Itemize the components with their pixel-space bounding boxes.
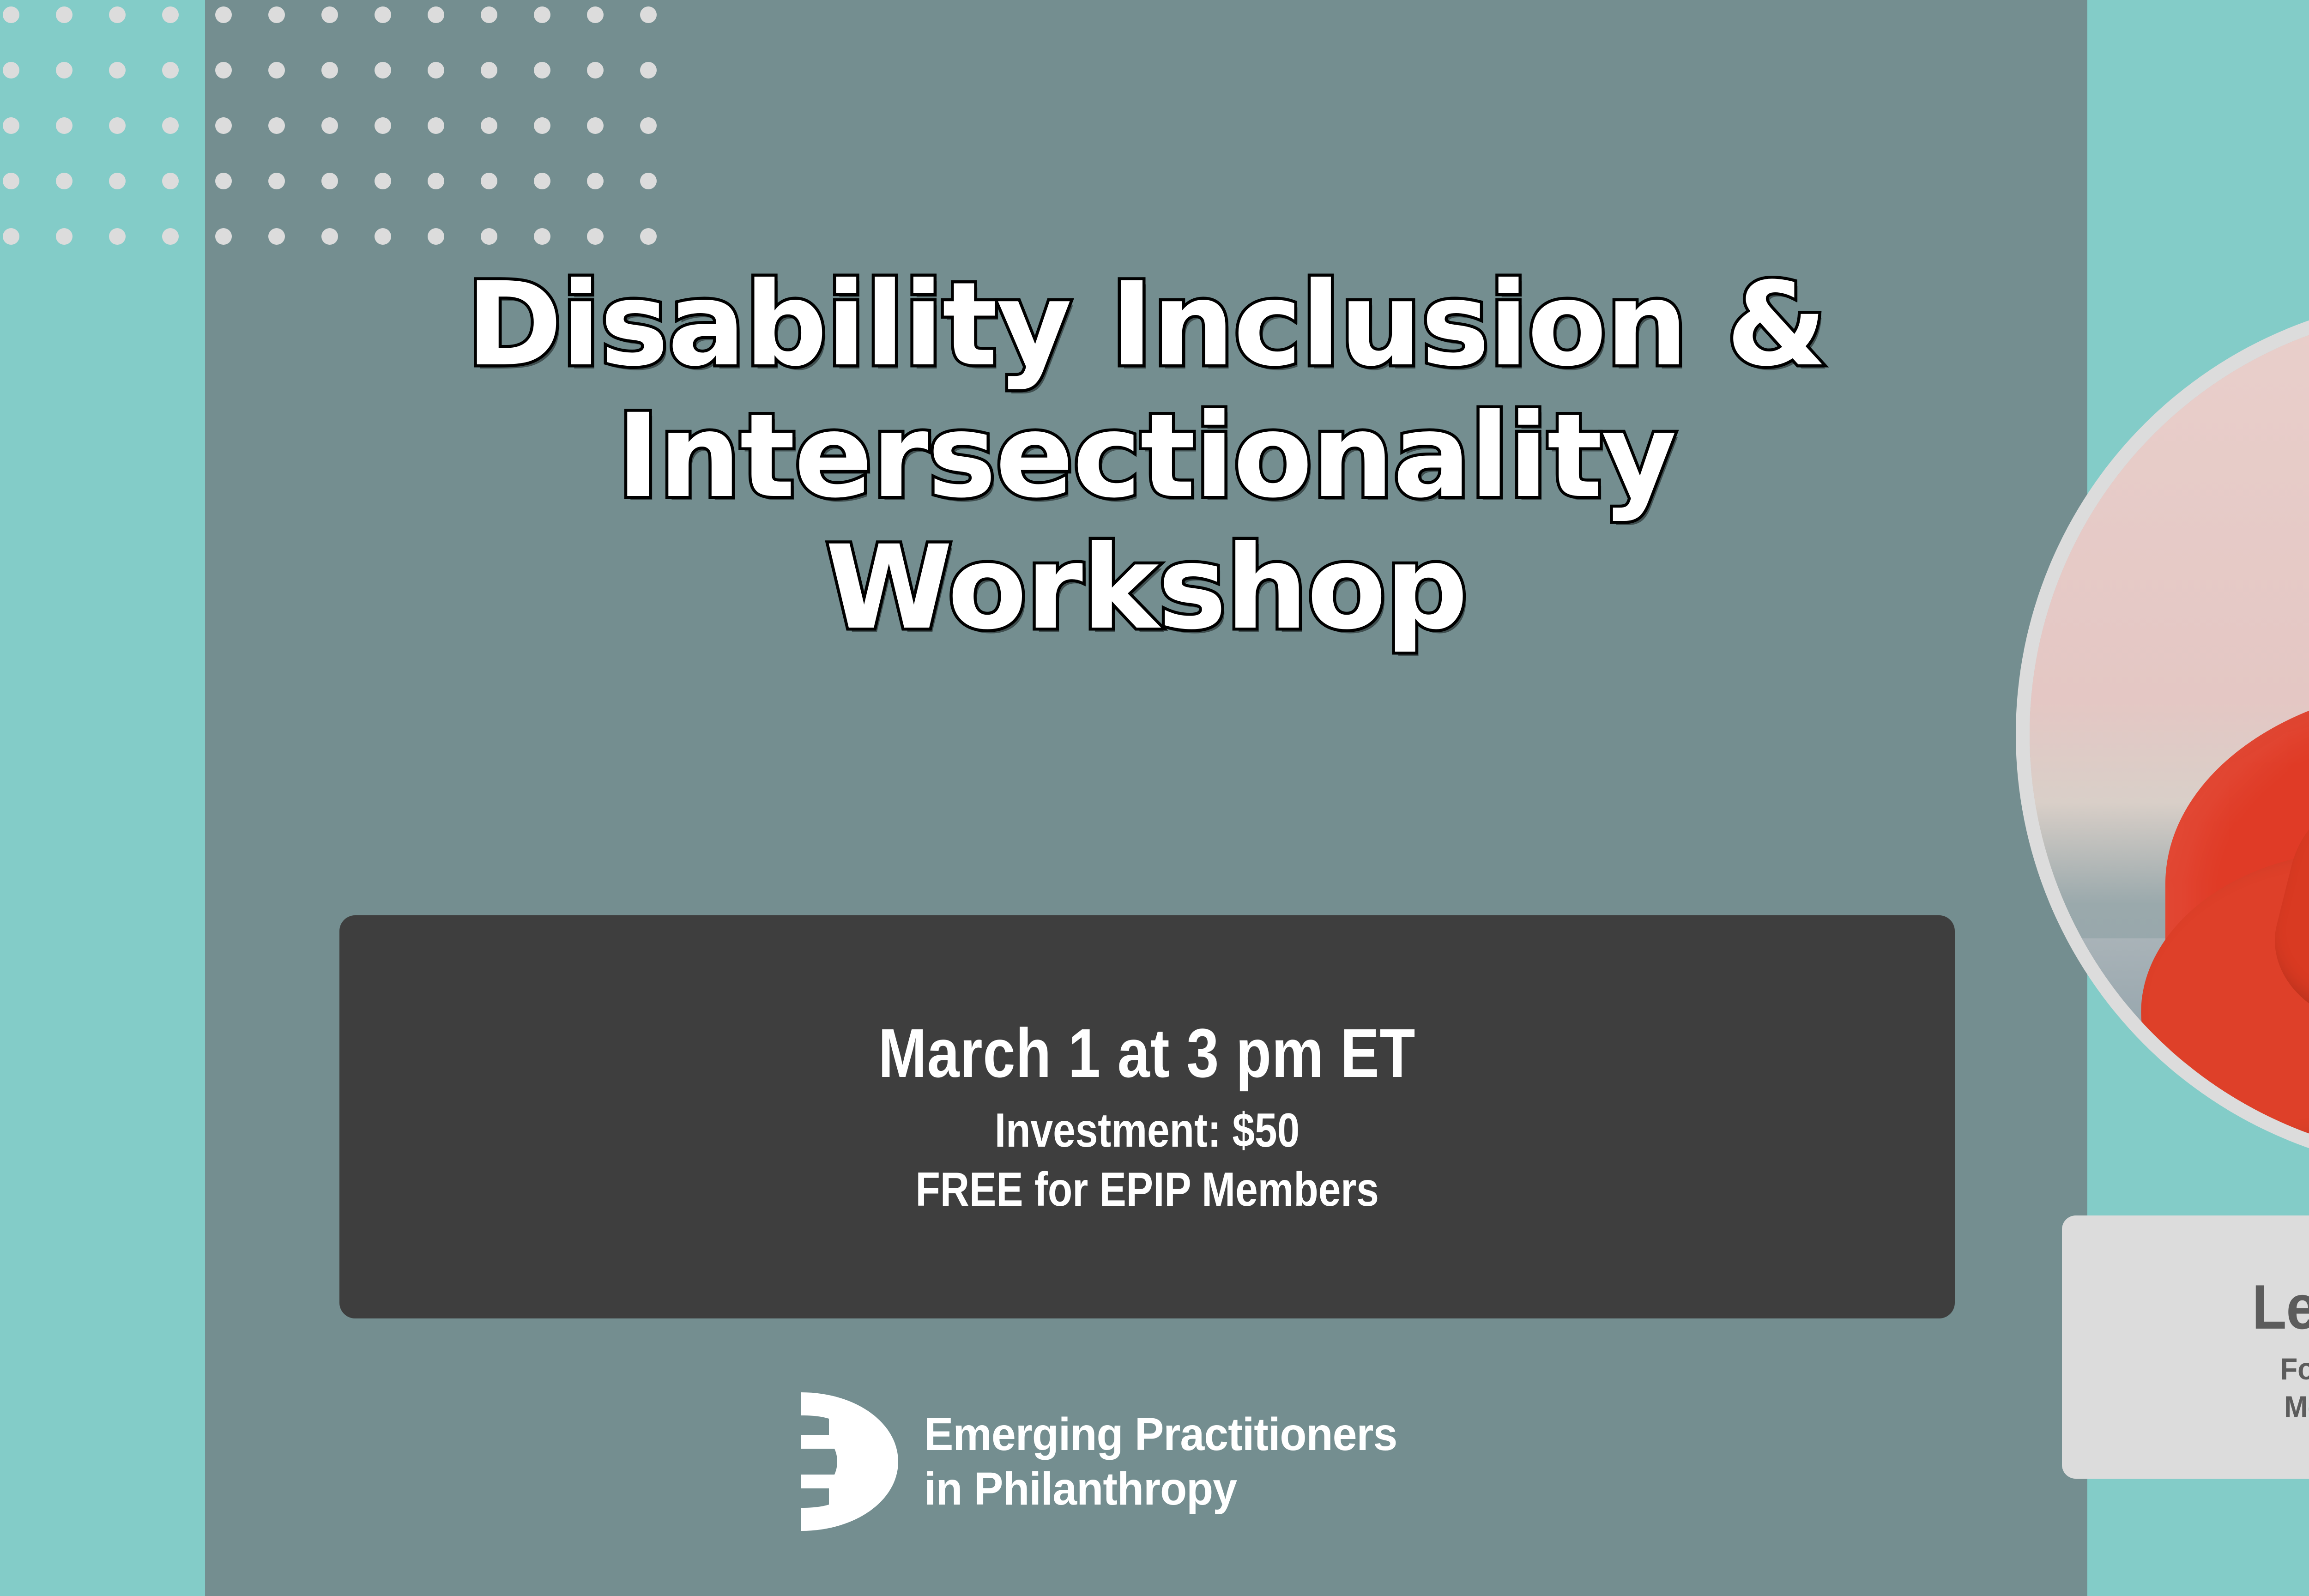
decor-dot — [640, 228, 657, 245]
decor-dot — [56, 62, 73, 79]
title-line-1: Disability Inclusion & — [205, 259, 2087, 390]
decor-dot — [481, 117, 497, 134]
decor-dot — [56, 6, 73, 23]
decor-dot — [321, 62, 338, 79]
decor-dot — [56, 173, 73, 189]
decor-dot — [162, 6, 179, 23]
decor-dot — [481, 62, 497, 79]
decor-dot — [640, 6, 657, 23]
decor-dot — [162, 228, 179, 245]
decor-dot — [640, 173, 657, 189]
decor-dot — [109, 173, 126, 189]
speaker-role-line-1: Founder, National Alliance of — [2280, 1350, 2309, 1388]
decor-dot — [56, 228, 73, 245]
decor-dot — [587, 173, 604, 189]
event-price: Investment: $50 — [995, 1101, 1300, 1160]
decor-dot — [162, 173, 179, 189]
decor-dot — [587, 117, 604, 134]
decor-dot — [534, 173, 550, 189]
decor-dot — [481, 173, 497, 189]
decor-dot — [375, 6, 391, 23]
event-promo-poster: Disability Inclusion & Intersectionality… — [0, 0, 2309, 1596]
decor-dot — [215, 117, 232, 134]
decor-dot — [268, 173, 285, 189]
decor-dot — [109, 6, 126, 23]
dot-grid-top-left — [3, 6, 693, 284]
decor-dot — [321, 117, 338, 134]
decor-dot — [3, 6, 19, 23]
decor-dot — [109, 62, 126, 79]
speaker-role-line-2: Melanin Disabled Advocates — [2284, 1388, 2309, 1426]
decor-dot — [162, 117, 179, 134]
decor-dot — [587, 6, 604, 23]
epip-e-mark-icon — [801, 1392, 898, 1531]
decor-dot — [640, 117, 657, 134]
title-line-3: Workshop — [205, 522, 2087, 653]
page-title: Disability Inclusion & Intersectionality… — [205, 259, 2087, 653]
decor-dot — [534, 62, 550, 79]
decor-dot — [268, 228, 285, 245]
decor-dot — [215, 173, 232, 189]
decor-dot — [587, 228, 604, 245]
decor-dot — [162, 62, 179, 79]
decor-dot — [428, 6, 444, 23]
decor-dot — [640, 62, 657, 79]
decor-dot — [3, 117, 19, 134]
speaker-name: Led by Keri Grey — [2252, 1272, 2309, 1342]
decor-dot — [109, 228, 126, 245]
decor-dot — [428, 228, 444, 245]
decor-dot — [321, 228, 338, 245]
decor-dot — [587, 62, 604, 79]
epip-logo-line-1: Emerging Practitioners — [924, 1407, 1397, 1462]
decor-dot — [375, 62, 391, 79]
decor-dot — [268, 62, 285, 79]
event-details-box: March 1 at 3 pm ET Investment: $50 FREE … — [339, 915, 1955, 1318]
decor-dot — [481, 228, 497, 245]
decor-dot — [534, 228, 550, 245]
decor-dot — [534, 117, 550, 134]
event-member-note: FREE for EPIP Members — [915, 1160, 1378, 1219]
speaker-card: Led by Keri Grey Founder, National Allia… — [2062, 1215, 2309, 1479]
decor-dot — [56, 117, 73, 134]
decor-dot — [215, 62, 232, 79]
decor-dot — [481, 6, 497, 23]
decor-dot — [428, 117, 444, 134]
decor-dot — [268, 117, 285, 134]
decor-dot — [321, 173, 338, 189]
decor-dot — [268, 6, 285, 23]
decor-dot — [375, 117, 391, 134]
epip-logo-line-2: in Philanthropy — [924, 1462, 1397, 1516]
decor-dot — [428, 173, 444, 189]
decor-dot — [534, 6, 550, 23]
title-line-2: Intersectionality — [205, 390, 2087, 522]
decor-dot — [375, 173, 391, 189]
decor-dot — [321, 6, 338, 23]
epip-logo: Emerging Practitioners in Philanthropy — [801, 1378, 1503, 1545]
decor-dot — [215, 6, 232, 23]
decor-dot — [215, 228, 232, 245]
decor-dot — [428, 62, 444, 79]
decor-dot — [375, 228, 391, 245]
event-datetime: March 1 at 3 pm ET — [878, 1015, 1415, 1091]
epip-logo-wordmark: Emerging Practitioners in Philanthropy — [924, 1407, 1397, 1516]
decor-dot — [3, 228, 19, 245]
decor-dot — [3, 62, 19, 79]
decor-dot — [3, 173, 19, 189]
decor-dot — [109, 117, 126, 134]
